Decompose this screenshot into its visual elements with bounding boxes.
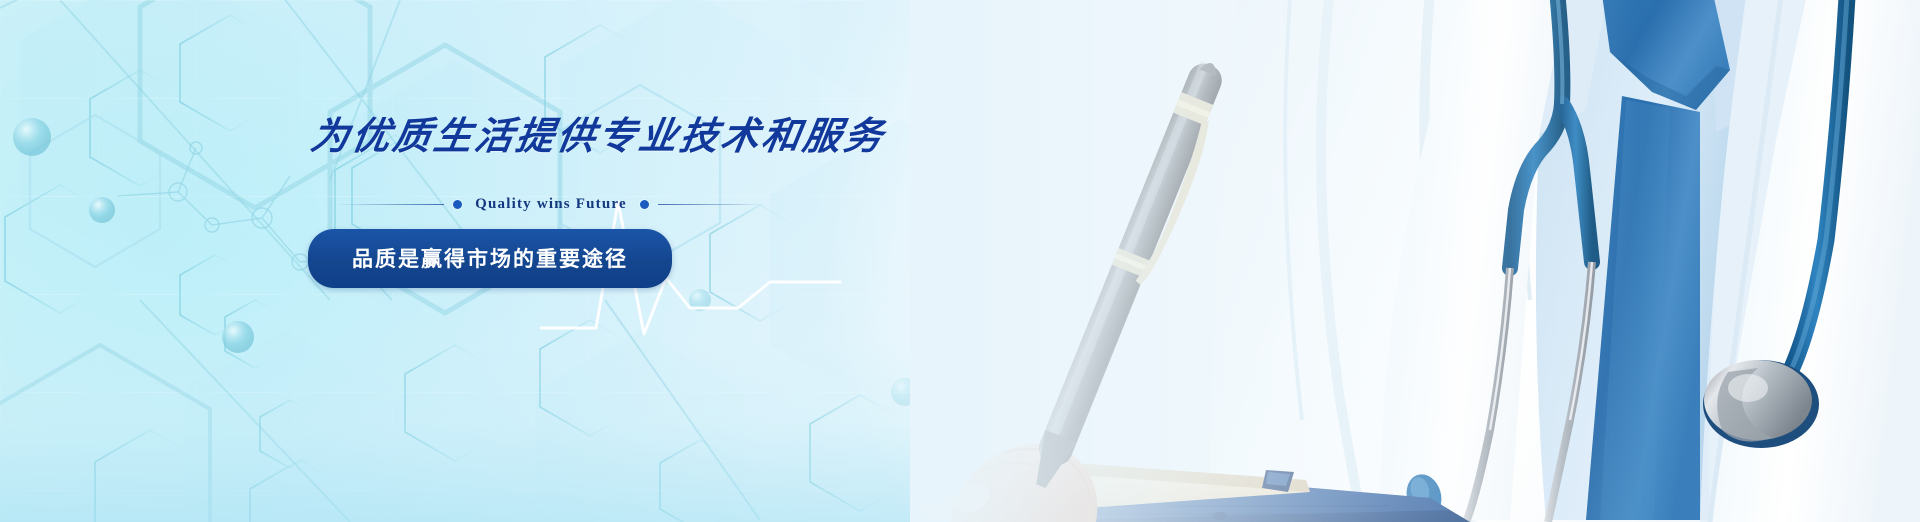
divider-dot-left-icon: [453, 200, 462, 209]
hero-banner: 为优质生活提供专业技术和服务 Quality wins Future 品质是赢得…: [0, 0, 1920, 522]
banner-content: 为优质生活提供专业技术和服务 Quality wins Future 品质是赢得…: [308, 118, 1028, 288]
divider-rule-left: [336, 204, 444, 205]
cta-button[interactable]: 品质是赢得市场的重要途径: [308, 229, 672, 288]
doctor-photo: [910, 0, 1920, 522]
divider-dot-right-icon: [640, 200, 649, 209]
page-title: 为优质生活提供专业技术和服务: [308, 118, 1034, 156]
divider-english-text: Quality wins Future: [471, 196, 631, 213]
divider: Quality wins Future: [336, 196, 766, 213]
divider-rule-right: [658, 204, 766, 205]
